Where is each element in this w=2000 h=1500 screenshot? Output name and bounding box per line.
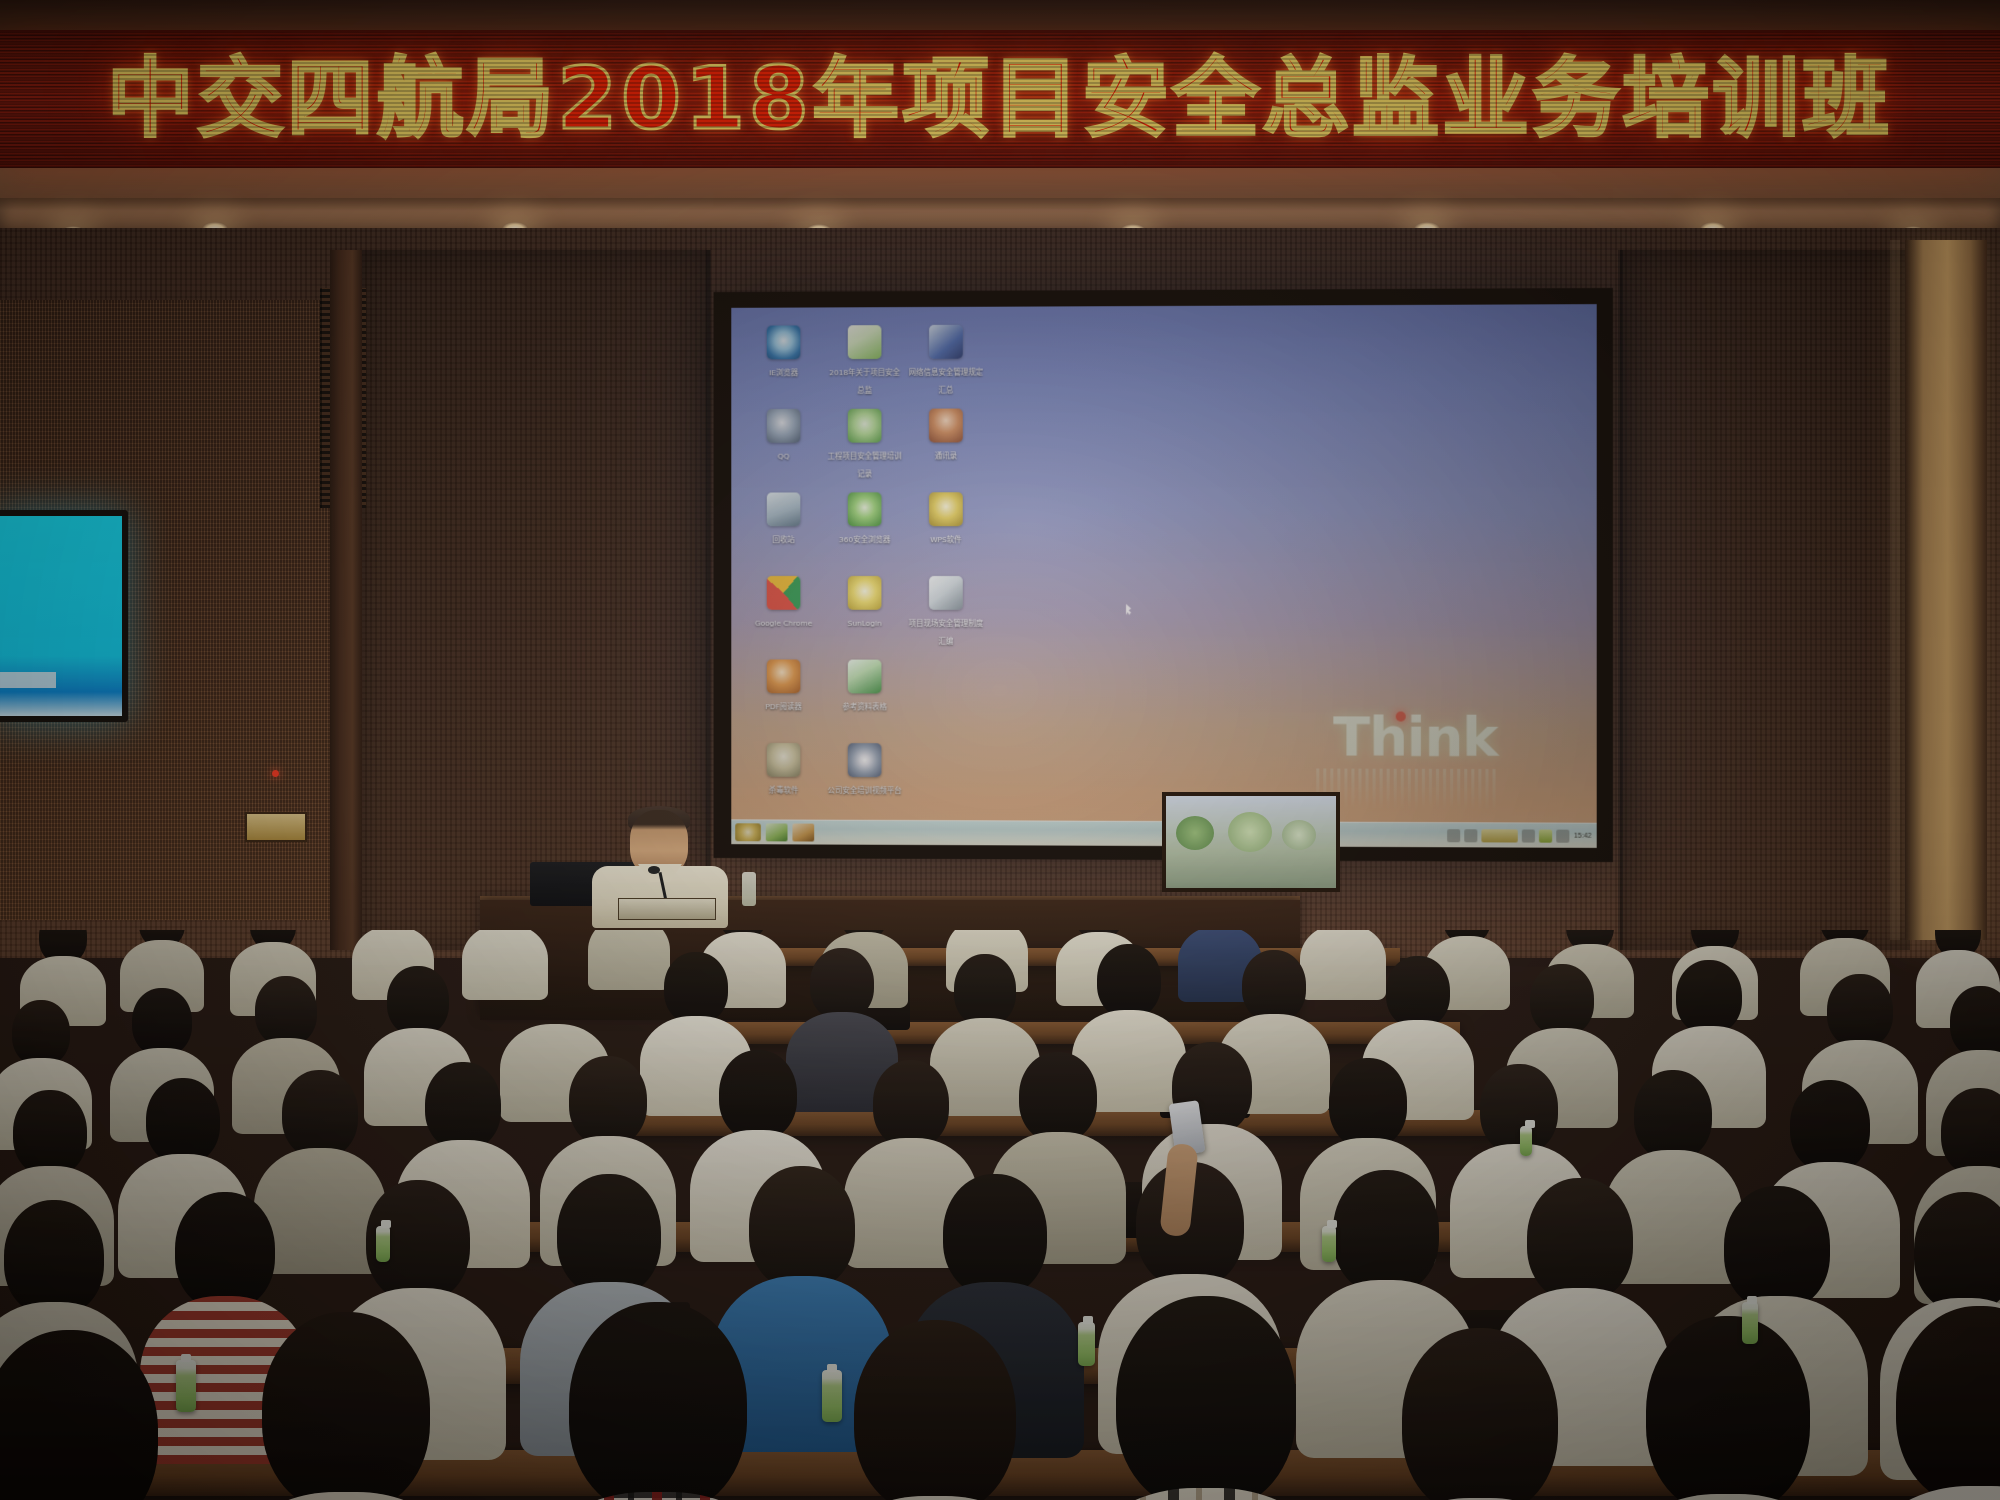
audience-head [425,1062,501,1150]
side-display-blob [1228,812,1272,852]
audience-head [12,1000,70,1066]
audience-torso [1840,1486,2000,1500]
audience-torso [206,1492,486,1500]
start-button-icon[interactable] [735,823,761,841]
wps-office-icon [929,492,963,526]
tray-icon[interactable] [1522,829,1535,842]
water-bottle [1520,1126,1532,1156]
audience-head [719,1050,797,1140]
audience-head [1530,964,1594,1036]
water-bottle [1742,1302,1758,1344]
sunlogin-app-icon [848,576,882,610]
audience-head [1402,1328,1558,1500]
desktop-icon-security-tool[interactable]: 杀毒软件 [745,743,822,798]
desktop-icon-safety-mgmt-doc[interactable]: 网络信息安全管理规定汇总 [907,325,984,398]
think-logo-reflection [1316,768,1497,811]
recycle-bin-icon [767,492,801,526]
audience-head [1646,1316,1810,1500]
desktop-icon-project-safety-folder[interactable]: 项目现场安全管理制度汇编 [907,576,984,649]
tray-icon[interactable] [1448,829,1461,842]
desktop-icon-media-player[interactable]: 公司安全培训视频平台 [826,743,903,798]
desktop-icon-contacts-app[interactable]: 通讯录 [907,408,984,463]
audience-head [175,1192,275,1310]
desktop-icon-label: 项目现场安全管理制度汇编 [909,619,983,646]
desktop-icon-label: PDF阅读器 [765,702,802,711]
desktop-icon-label: 工程项目安全管理培训记录 [828,452,902,479]
excel-sheet-icon [848,660,882,694]
side-display-blob [1282,820,1316,850]
wall-monitor-strip [0,672,56,688]
audience-head [282,1070,358,1158]
audience-head [146,1078,220,1164]
internet-explorer-icon [767,325,801,359]
led-banner: 中交四航局2018年项目安全总监业务培训班 [0,30,2000,168]
audience-member [508,1302,808,1500]
audience-head [1527,1178,1633,1302]
desktop-icon-pdf-reader[interactable]: PDF阅读器 [745,659,822,714]
desktop-icon-browser-360[interactable]: 360安全浏览器 [826,492,903,547]
desktop-icon-google-chrome[interactable]: Google Chrome [745,576,822,631]
water-bottle [1322,1226,1336,1262]
projection-screen[interactable]: IE浏览器2018年关于项目安全总监网络信息安全管理规定汇总QQ工程项目安全管理… [731,304,1596,848]
desktop-icon-grid: IE浏览器2018年关于项目安全总监网络信息安全管理规定汇总QQ工程项目安全管理… [745,325,992,326]
speaker-nameplate [618,898,716,920]
wall-panel [1620,250,1910,950]
desktop-icon-label: 回收站 [772,535,794,544]
audience-head [1097,944,1161,1018]
water-bottle [822,1370,842,1422]
mouse-cursor [1126,604,1131,615]
browser-360-icon [848,492,882,526]
audience-head [132,988,192,1056]
podium-water-bottle [742,872,756,906]
projection-screen-frame: IE浏览器2018年关于项目安全总监网络信息安全管理规定汇总QQ工程项目安全管理… [714,288,1613,862]
desktop-icon-label: 参考资料表格 [842,702,887,711]
desktop-icon-wechat-app[interactable]: 工程项目安全管理培训记录 [826,409,903,482]
audience-torso [1056,1488,1356,1500]
wall-column [330,250,362,950]
audience-head [1827,974,1893,1048]
audience-torso [800,1496,1070,1500]
desktop-icon-recycle-bin[interactable]: 回收站 [745,492,822,547]
pdf-reader-icon [767,659,801,693]
audience-head [1333,1170,1439,1294]
audience-member [1350,1328,1610,1500]
desktop-icon-sunlogin-app[interactable]: SunLogin [826,576,903,631]
audience-head [569,1302,747,1500]
tray-icon[interactable] [1465,829,1478,842]
water-bottle [376,1226,390,1262]
desktop-icon-internet-explorer[interactable]: IE浏览器 [745,325,822,380]
audience-head [873,1060,949,1148]
desktop-icon-label: 通讯录 [935,451,957,460]
audience-area [0,930,2000,1500]
audience-head [1116,1296,1296,1500]
audience-head [1242,950,1306,1022]
audience-member [206,1312,486,1500]
desktop-icon-label: IE浏览器 [769,368,798,377]
google-chrome-icon [767,576,801,610]
security-tool-icon [767,743,801,777]
taskbar-explorer-icon[interactable] [766,823,788,841]
audience-head [1950,986,2000,1058]
qq-app-icon [767,409,801,443]
audience-head [524,960,586,1032]
desktop-icon-label: 2018年关于项目安全总监 [829,368,900,395]
audience-head [1634,1070,1712,1160]
side-display-panel [1162,792,1340,892]
desktop-icon-training-notice-doc[interactable]: 2018年关于项目安全总监 [826,325,903,398]
desktop-icon-label: Google Chrome [755,619,813,628]
audience-head [810,948,874,1020]
wall-plaque [245,812,307,842]
desktop-icon-label: 网络信息安全管理规定汇总 [909,368,983,395]
desktop-icon-label: 360安全浏览器 [839,535,890,544]
wall-monitor [0,510,128,722]
audience-head [1480,1064,1558,1154]
wall-seam [1618,250,1623,950]
tray-icon[interactable] [1539,829,1552,842]
audience-torso [508,1492,808,1500]
audience-member [1590,1316,1866,1500]
desktop-icon-qq-app[interactable]: QQ [745,409,822,464]
audience-head [1329,1058,1407,1148]
desktop-icon-label: QQ [778,452,790,461]
project-safety-folder-icon [929,576,963,610]
audience-head [1896,1306,2000,1500]
system-tray[interactable]: 15:42 [1448,829,1597,843]
audience-head [387,966,449,1036]
lit-column [1905,240,1987,940]
audience-head [13,1090,87,1176]
audience-head [1941,1088,2000,1176]
training-notice-doc-icon [848,325,882,359]
think-logo-dot [1396,712,1406,722]
audience-member [1840,1306,2000,1500]
audience-head [255,976,317,1046]
audience-head [954,954,1016,1026]
safety-mgmt-doc-icon [929,325,963,359]
think-logo: Think [1333,705,1497,769]
audience-head [4,1200,104,1316]
audience-head [1790,1080,1870,1172]
banner-title: 中交四航局2018年项目安全总监业务培训班 [107,56,1892,142]
wechat-app-icon [848,409,882,443]
tray-ime-indicator[interactable] [1482,829,1518,842]
side-display-blob [1176,816,1214,850]
wall-seam [706,250,711,950]
water-bottle [1078,1322,1095,1366]
audience-head [1676,960,1742,1034]
audience-head [1724,1186,1830,1310]
contacts-app-icon [929,409,963,443]
audience-head [1386,956,1450,1028]
audience-member [1056,1296,1356,1500]
audience-head [557,1174,661,1296]
audience-member [0,1330,210,1500]
audience-head [262,1312,430,1500]
audience-head [0,1330,158,1500]
audience-head [569,1056,647,1146]
audience-head [1914,1192,2000,1312]
media-player-icon [848,743,882,777]
tray-icon[interactable] [1557,829,1570,842]
desktop-icon-label: 杀毒软件 [769,786,799,795]
indicator-led [272,770,279,777]
taskbar-media-icon[interactable] [792,824,814,842]
desktop-icon-label: 公司安全培训视频平台 [828,786,902,795]
wall-highlight [1890,240,1900,940]
taskbar-clock[interactable]: 15:42 [1574,832,1592,839]
conference-room-photo: 中交四航局2018年项目安全总监业务培训班 IE浏览器2018年关于项目安全总监… [0,0,2000,1500]
water-bottle [176,1360,196,1412]
desktop-icon-label: WPS软件 [930,535,961,544]
microphone-head [648,866,660,874]
audience-head [943,1174,1047,1296]
audience-head [749,1166,855,1290]
audience-head [1019,1052,1097,1142]
banner-top-shadow [0,0,2000,30]
desktop-icon-wps-office[interactable]: WPS软件 [907,492,984,547]
audience-torso [1590,1494,1866,1500]
desktop-icon-label: SunLogin [848,619,882,628]
audience-head [854,1320,1016,1500]
audience-head [664,952,728,1024]
desktop-icon-excel-sheet[interactable]: 参考资料表格 [826,660,903,715]
